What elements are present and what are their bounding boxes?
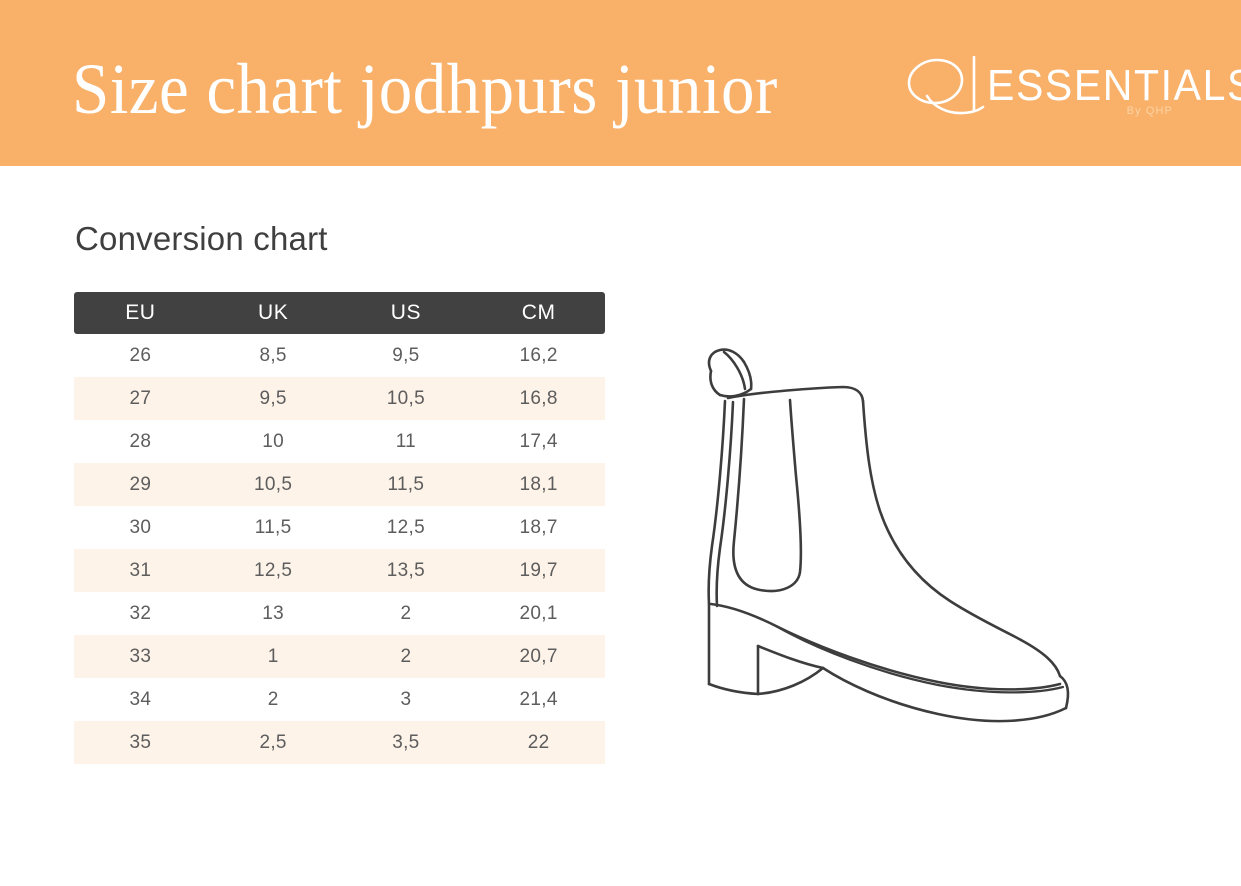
cell-cm: 20,1 [472,592,605,635]
table-row: 34 2 3 21,4 [74,678,605,721]
cell-eu: 27 [74,377,207,420]
jodhpur-boot-icon [688,336,1158,766]
cell-cm: 19,7 [472,549,605,592]
cell-uk: 8,5 [207,334,340,377]
table-header-row: EU UK US CM [74,292,605,334]
table-row: 30 11,5 12,5 18,7 [74,506,605,549]
header-band: Size chart jodhpurs junior ESSENTIALS By… [0,0,1241,166]
cell-uk: 10 [207,420,340,463]
table-body: 26 8,5 9,5 16,2 27 9,5 10,5 16,8 28 10 1… [74,334,605,764]
cell-cm: 16,8 [472,377,605,420]
cell-eu: 35 [74,721,207,764]
cell-us: 2 [340,635,473,678]
cell-us: 10,5 [340,377,473,420]
cell-eu: 29 [74,463,207,506]
cell-uk: 13 [207,592,340,635]
q-monogram-icon [905,56,991,122]
table-row: 32 13 2 20,1 [74,592,605,635]
logo-wordmark: ESSENTIALS [987,64,1241,107]
cell-cm: 20,7 [472,635,605,678]
cell-eu: 30 [74,506,207,549]
table-row: 33 1 2 20,7 [74,635,605,678]
conversion-table: EU UK US CM 26 8,5 9,5 16,2 27 9,5 10,5 … [74,292,605,764]
cell-us: 11,5 [340,463,473,506]
cell-us: 13,5 [340,549,473,592]
cell-uk: 2,5 [207,721,340,764]
cell-uk: 1 [207,635,340,678]
cell-eu: 33 [74,635,207,678]
table-row: 29 10,5 11,5 18,1 [74,463,605,506]
cell-uk: 12,5 [207,549,340,592]
cell-cm: 21,4 [472,678,605,721]
cell-us: 11 [340,420,473,463]
cell-uk: 2 [207,678,340,721]
cell-cm: 17,4 [472,420,605,463]
column-header-us: US [340,292,473,334]
cell-cm: 22 [472,721,605,764]
cell-us: 3,5 [340,721,473,764]
column-header-uk: UK [207,292,340,334]
cell-us: 9,5 [340,334,473,377]
cell-eu: 26 [74,334,207,377]
column-header-eu: EU [74,292,207,334]
column-header-cm: CM [472,292,605,334]
logo-byline: By QHP [1127,105,1173,117]
cell-us: 2 [340,592,473,635]
cell-eu: 34 [74,678,207,721]
cell-eu: 31 [74,549,207,592]
table-row: 26 8,5 9,5 16,2 [74,334,605,377]
cell-us: 3 [340,678,473,721]
cell-eu: 28 [74,420,207,463]
cell-cm: 18,7 [472,506,605,549]
brand-logo: ESSENTIALS By QHP [905,58,1175,128]
table-header: EU UK US CM [74,292,605,334]
cell-uk: 11,5 [207,506,340,549]
section-heading: Conversion chart [75,219,328,259]
cell-us: 12,5 [340,506,473,549]
table-row: 27 9,5 10,5 16,8 [74,377,605,420]
table-row: 28 10 11 17,4 [74,420,605,463]
table-row: 31 12,5 13,5 19,7 [74,549,605,592]
cell-cm: 16,2 [472,334,605,377]
table-row: 35 2,5 3,5 22 [74,721,605,764]
cell-eu: 32 [74,592,207,635]
cell-uk: 9,5 [207,377,340,420]
page-title: Size chart jodhpurs junior [72,46,778,132]
cell-uk: 10,5 [207,463,340,506]
cell-cm: 18,1 [472,463,605,506]
